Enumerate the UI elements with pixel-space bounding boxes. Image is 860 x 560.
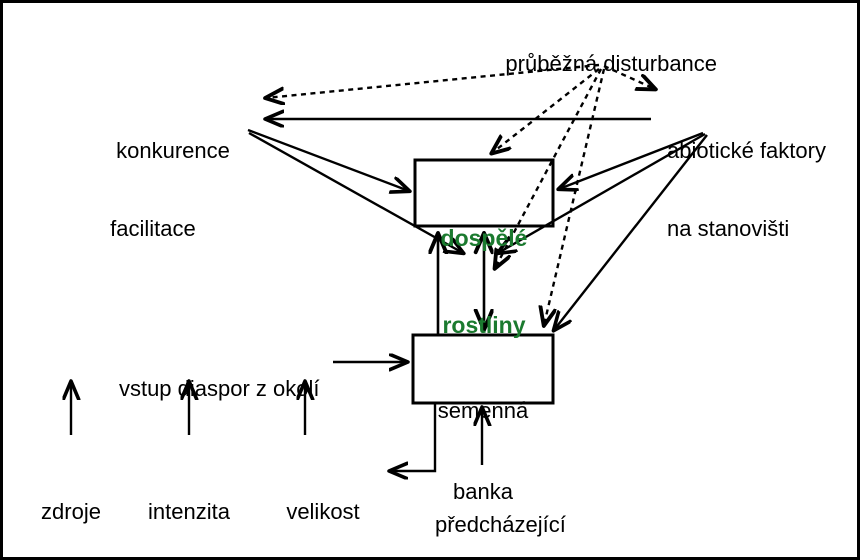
label-seed-bank-line1: semenná <box>413 397 553 424</box>
label-diaspore-sources-line1: zdroje <box>35 499 107 525</box>
label-adult-plants-line2: rostliny <box>415 311 553 340</box>
label-abiotic-factors: abiotické faktory na stanovišti <box>667 86 826 294</box>
label-site-area: velikost plochy stanoviště <box>273 447 372 560</box>
label-site-history-line1: předcházející <box>435 512 590 538</box>
label-diaspore-input: vstup diaspor z okolí <box>95 350 320 428</box>
diagram-canvas: průběžná disturbance konkurence facilita… <box>0 0 860 560</box>
label-disturbance-text: průběžná disturbance <box>505 51 717 76</box>
label-site-history: předcházející vývoj stanoviště <box>435 460 590 560</box>
label-transport-factors: intenzita faktorů umožňujících transport <box>124 447 254 560</box>
label-site-area-line1: velikost <box>273 499 372 525</box>
label-competition-line1: konkurence <box>116 138 230 164</box>
label-diaspore-input-text: vstup diaspor z okolí <box>119 376 320 401</box>
label-competition: konkurence facilitace <box>116 86 230 294</box>
label-adult-plants-line1: dospělé <box>415 224 553 253</box>
label-abiotic-line1: abiotické faktory <box>667 138 826 164</box>
label-abiotic-line2: na stanovišti <box>667 216 826 242</box>
label-competition-line2: facilitace <box>110 216 230 242</box>
edge-competition-to-adult-plants-left <box>248 130 409 191</box>
label-diaspore-sources: zdroje diaspor v okolí <box>35 447 107 560</box>
label-transport-factors-line1: intenzita <box>124 499 254 525</box>
